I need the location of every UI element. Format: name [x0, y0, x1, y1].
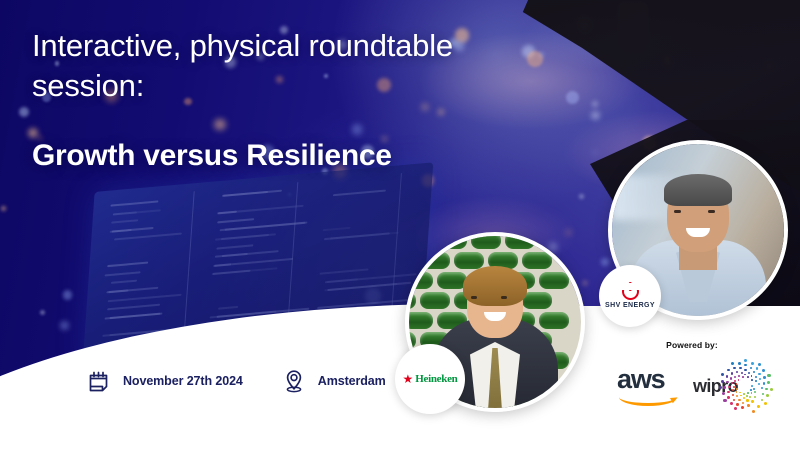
event-banner: Interactive, physical roundtable session…	[0, 0, 800, 450]
powered-by-section: Powered by: aws wipro	[604, 340, 780, 409]
shv-energy-wordmark: SHV ENERGY	[605, 302, 655, 309]
shv-eye-left	[674, 210, 681, 213]
heineken-eye-left	[471, 296, 477, 299]
location-pin-icon	[281, 368, 307, 394]
star-icon: ★	[403, 373, 414, 385]
shv-eye-right	[708, 210, 715, 213]
powered-by-label: Powered by:	[666, 340, 718, 350]
event-location: Amsterdam	[281, 368, 386, 394]
aws-smile-arrow-icon	[619, 388, 677, 406]
event-date: November 27th 2024	[86, 368, 243, 394]
banner-kicker: Interactive, physical roundtable session…	[32, 26, 462, 105]
wipro-spiral-icon	[721, 362, 769, 410]
heineken-logo-badge: ★ Heineken	[395, 344, 465, 414]
wipro-logo: wipro	[693, 363, 767, 409]
power-flame-icon	[622, 283, 639, 300]
event-meta: November 27th 2024 Amsterdam	[86, 368, 386, 394]
event-location-label: Amsterdam	[318, 374, 386, 388]
heineken-wordmark: Heineken	[415, 373, 457, 385]
banner-headline: Growth versus Resilience	[32, 138, 552, 174]
shv-energy-logo-badge: SHV ENERGY	[599, 265, 661, 327]
shv-hair	[664, 174, 732, 206]
heineken-speaker-hair	[463, 266, 527, 306]
heineken-eye-right	[501, 296, 507, 299]
sponsor-logos: aws wipro	[617, 363, 767, 409]
aws-logo: aws	[617, 366, 679, 406]
event-date-label: November 27th 2024	[123, 374, 243, 388]
calendar-icon	[86, 368, 112, 394]
